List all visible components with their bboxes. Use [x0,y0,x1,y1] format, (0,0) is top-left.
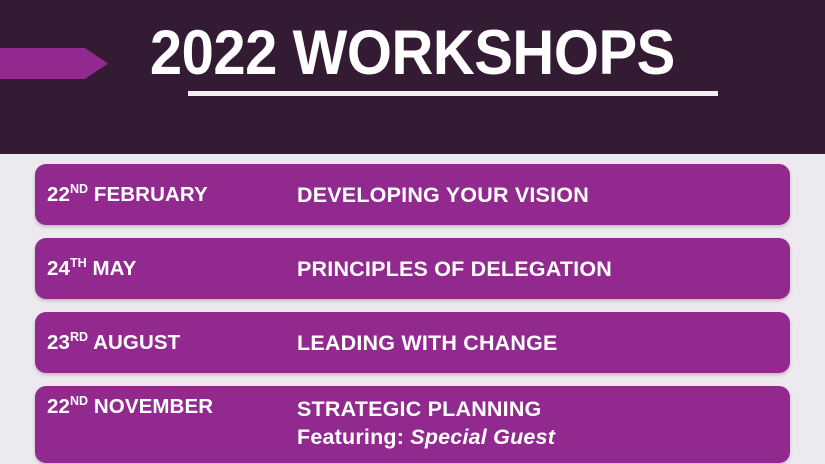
workshop-topic: DEVELOPING YOUR VISION [297,181,589,209]
date-number: 22 [47,395,70,418]
workshop-topic-title: LEADING WITH CHANGE [297,331,558,355]
workshop-subtitle-prefix: Featuring: [297,425,410,449]
date-number: 22 [47,183,70,206]
workshop-date: 23RD AUGUST [47,331,297,355]
date-month: NOVEMBER [88,395,213,418]
date-number: 24 [47,257,70,280]
workshop-topic-title: STRATEGIC PLANNING [297,397,541,421]
workshop-row[interactable]: 22ND FEBRUARY DEVELOPING YOUR VISION [35,164,790,225]
date-month: MAY [87,257,137,280]
workshop-date: 22ND FEBRUARY [47,183,297,207]
date-month: FEBRUARY [88,183,208,206]
workshop-subtitle-emphasis: Special Guest [410,425,555,449]
workshop-date: 22ND NOVEMBER [47,395,297,419]
header-banner: 2022 WORKSHOPS [0,0,825,154]
date-ordinal-suffix: RD [70,330,88,344]
workshop-topic: LEADING WITH CHANGE [297,329,558,357]
date-ordinal-suffix: ND [70,182,88,196]
workshop-row[interactable]: 24TH MAY PRINCIPLES OF DELEGATION [35,238,790,299]
workshop-topic-title: DEVELOPING YOUR VISION [297,183,589,207]
date-month: AUGUST [88,331,180,354]
workshop-date: 24TH MAY [47,257,297,281]
workshop-topic: STRATEGIC PLANNING Featuring: Special Gu… [297,395,555,451]
workshop-subtitle: Featuring: Special Guest [297,423,555,451]
page-title-wrap: 2022 WORKSHOPS [0,18,825,88]
date-ordinal-suffix: TH [70,256,87,270]
page-title: 2022 WORKSHOPS [150,18,675,88]
workshop-row[interactable]: 23RD AUGUST LEADING WITH CHANGE [35,312,790,373]
date-number: 23 [47,331,70,354]
workshop-schedule-list: 22ND FEBRUARY DEVELOPING YOUR VISION 24T… [35,164,790,464]
workshop-row[interactable]: 22ND NOVEMBER STRATEGIC PLANNING Featuri… [35,386,790,463]
workshop-topic: PRINCIPLES OF DELEGATION [297,255,612,283]
title-underline [188,91,718,96]
date-ordinal-suffix: ND [70,394,88,408]
workshop-topic-title: PRINCIPLES OF DELEGATION [297,257,612,281]
